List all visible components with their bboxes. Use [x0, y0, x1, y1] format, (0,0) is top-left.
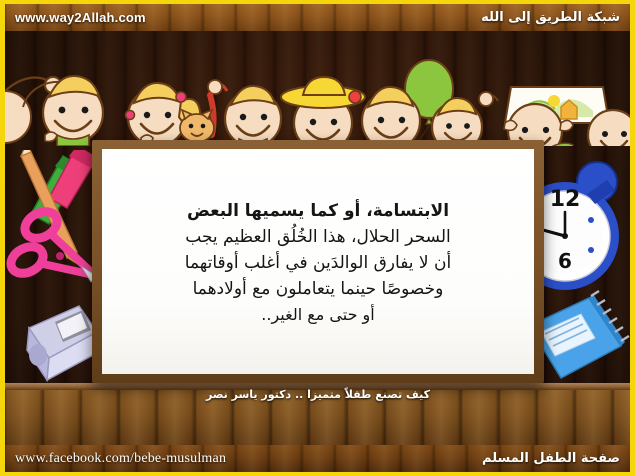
- svg-text:6: 6: [558, 249, 572, 273]
- alarm-clock: 12 6: [535, 158, 621, 290]
- quote-line-1: الابتسامة، أو كما يسميها البعض: [116, 199, 520, 225]
- top-banner: www.way2Allah.com شبكة الطريق إلى الله: [5, 4, 630, 31]
- bottom-banner: www.facebook.com/bebe-musulman صفحة الطف…: [5, 445, 630, 472]
- quote-line-3: أن لا يفارق الوالدَين في أغلب أوقاتهما: [116, 251, 520, 277]
- scissors: [6, 206, 97, 282]
- frame-border-left: [0, 0, 5, 476]
- child-6-yellow-hat: [281, 77, 365, 146]
- child-2-boy: [23, 76, 103, 146]
- site-name-arabic: شبكة الطريق إلى الله: [481, 10, 620, 25]
- facebook-url[interactable]: www.facebook.com/bebe-musulman: [15, 451, 226, 467]
- sharpener: [27, 306, 97, 380]
- stationery-right-cluster: 12 6: [535, 150, 630, 395]
- facebook-page-name-arabic: صفحة الطفل المسلم: [482, 451, 620, 466]
- children-illustration: [5, 31, 630, 146]
- frame-border-right: [630, 0, 635, 476]
- notebook: [535, 291, 629, 378]
- stationery-left-cluster: [5, 150, 100, 390]
- quote-board-face: الابتسامة، أو كما يسميها البعض السحر الح…: [102, 149, 534, 374]
- child-5-boy: [225, 86, 281, 146]
- quote-line-2: السحر الحلال، هذا الخُلُق العظيم يجب: [116, 225, 520, 251]
- quote-board: الابتسامة، أو كما يسميها البعض السحر الح…: [92, 140, 544, 383]
- site-url[interactable]: www.way2Allah.com: [15, 10, 146, 25]
- source-caption: كيف تصنع طفلاً متميزا .. دكتور ياسر نصر: [92, 388, 544, 401]
- frame-border-bottom: [0, 472, 635, 476]
- quote-line-5: أو حتى مع الغير..: [116, 303, 520, 328]
- svg-text:12: 12: [550, 187, 581, 212]
- frame-border-top: [0, 0, 635, 4]
- quote-line-4: وخصوصًا حينما يتعاملون مع أولادهما: [116, 277, 520, 303]
- poster-canvas: 12 6: [0, 0, 635, 476]
